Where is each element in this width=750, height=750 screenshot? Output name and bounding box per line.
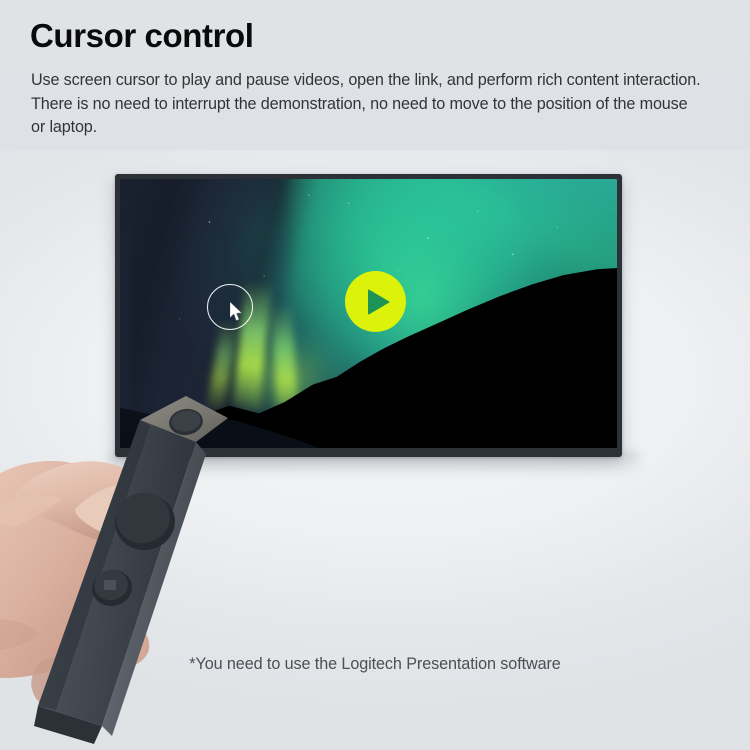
page-description: Use screen cursor to play and pause vide…	[31, 69, 701, 140]
play-triangle-icon	[368, 289, 390, 315]
play-button[interactable]	[345, 271, 406, 332]
page-root: Cursor control Use screen cursor to play…	[0, 0, 750, 750]
hand-holding-presenter	[0, 370, 250, 750]
footer-note: *You need to use the Logitech Presentati…	[0, 655, 750, 674]
lower-button-glyph-icon	[104, 580, 116, 590]
mouse-pointer-icon	[230, 302, 244, 322]
page-title: Cursor control	[30, 16, 254, 56]
